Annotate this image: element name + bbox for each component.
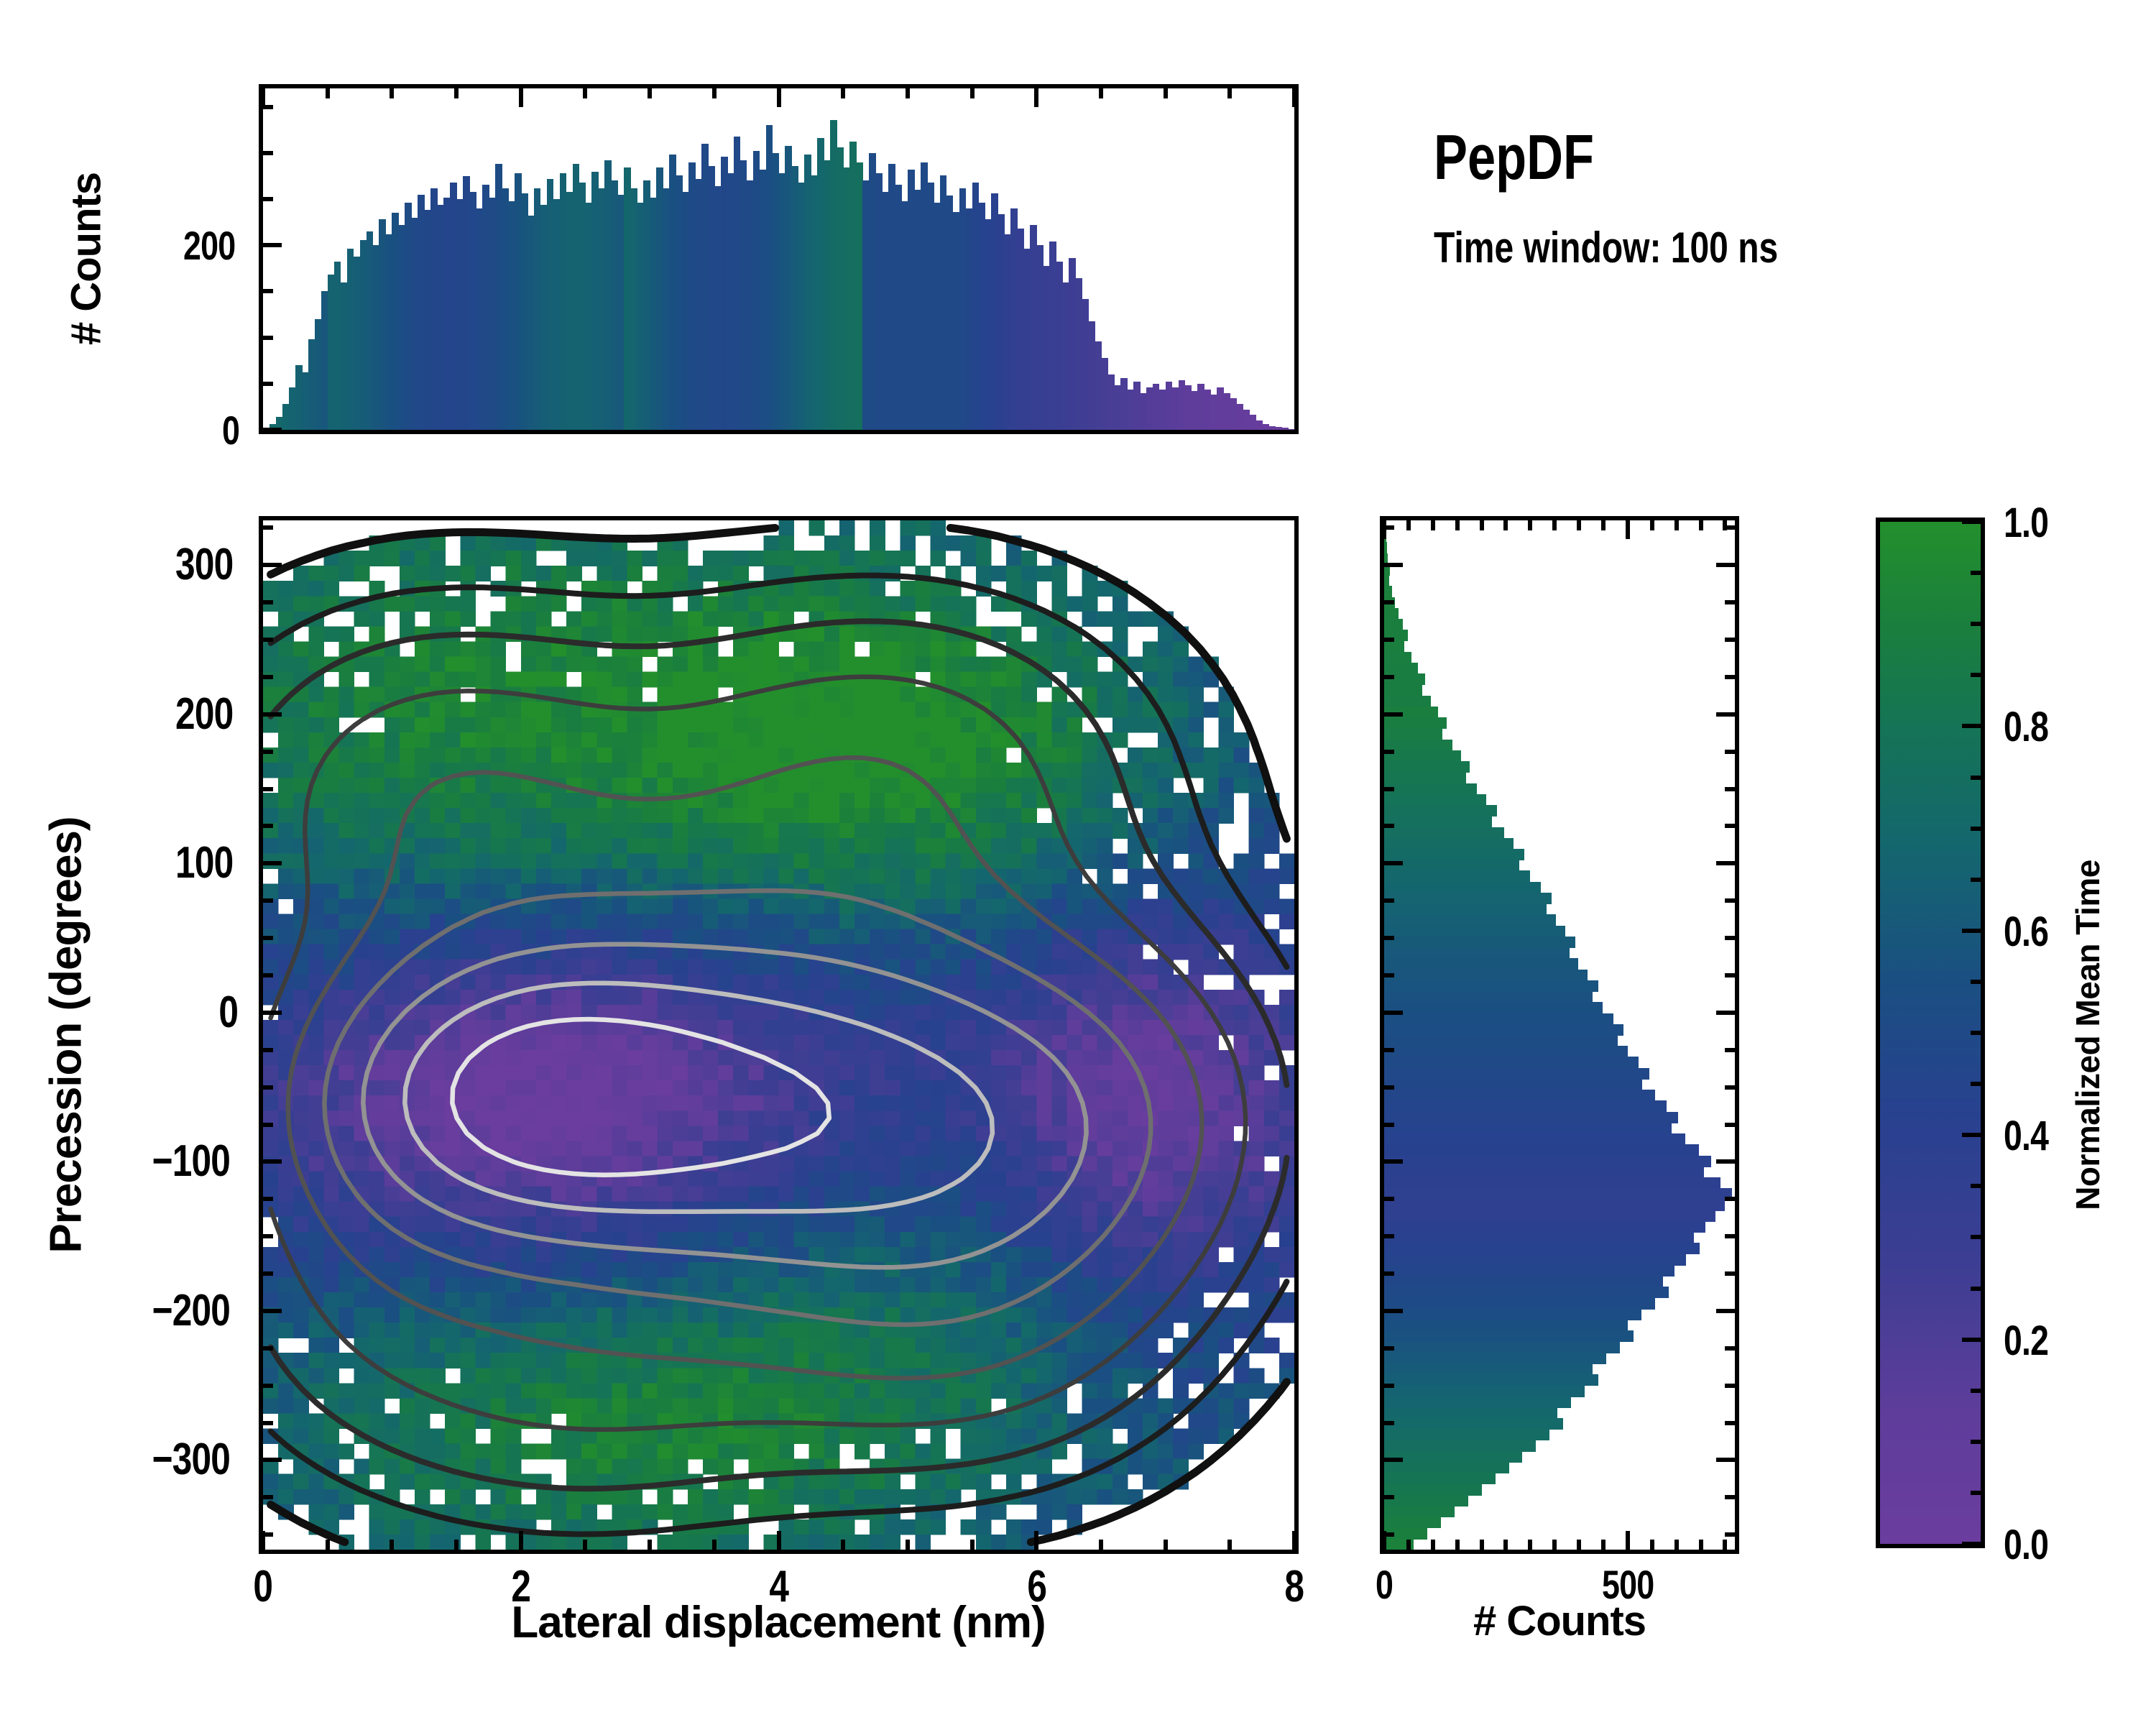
- right-histogram-bar: [1384, 1298, 1655, 1310]
- right-panel-x-tick: [1552, 1540, 1557, 1550]
- main-panel-y-tick: [263, 712, 282, 717]
- main-panel-x-tick: [519, 1531, 523, 1550]
- main-panel-x-tick: [712, 1540, 717, 1550]
- right-histogram-bar: [1384, 1320, 1628, 1331]
- right-histogram-bar: [1384, 641, 1404, 653]
- right-histogram-bars: [1384, 520, 1735, 1550]
- right-panel-y-tick: [1725, 1048, 1735, 1052]
- right-panel-y-tick: [1725, 600, 1735, 604]
- right-histogram-bar: [1384, 1407, 1557, 1419]
- colorbar: [1876, 517, 1985, 1548]
- main-panel-y-tick: [263, 675, 273, 679]
- right-histogram-bar: [1384, 991, 1593, 1003]
- right-panel-y-tick: [1384, 973, 1394, 977]
- figure-subtitle-text: Time window: 100 ns: [1434, 226, 1778, 270]
- top-panel-x-tick: [906, 88, 910, 98]
- right-histogram-bar: [1384, 772, 1466, 783]
- colorbar-minor-tick: [1971, 827, 1981, 831]
- heatmap-svg: [263, 520, 1294, 1550]
- top-panel-x-tick: [390, 88, 394, 98]
- colorbar-major-tick: [1962, 724, 1981, 728]
- right-histogram-bar: [1384, 1188, 1732, 1200]
- colorbar-minor-tick: [1971, 776, 1981, 780]
- right-panel-y-tick: [1725, 898, 1735, 903]
- right-histogram-bar: [1384, 1287, 1669, 1298]
- right-histogram-bar: [1384, 849, 1524, 860]
- right-panel-y-tick: [1384, 1048, 1394, 1052]
- main-panel-y-tick-label: −200: [0, 1285, 240, 1336]
- right-panel-y-tick: [1725, 936, 1735, 940]
- right-panel-x-tick: [1431, 1540, 1435, 1550]
- right-panel-y-tick: [1384, 1271, 1394, 1276]
- right-panel-y-tick: [1725, 1346, 1735, 1351]
- right-histogram-bar: [1384, 1374, 1598, 1386]
- right-histogram-bar: [1384, 1451, 1522, 1463]
- right-histogram-bar: [1384, 783, 1477, 795]
- right-panel-y-tick: [1725, 675, 1735, 679]
- right-histogram-bar: [1384, 542, 1387, 553]
- right-panel-y-tick: [1384, 525, 1394, 530]
- right-panel-x-tick: [1650, 1540, 1654, 1550]
- main-panel-y-tick: [263, 1048, 273, 1052]
- right-panel-y-tick: [1725, 1532, 1735, 1537]
- right-histogram-bar: [1384, 619, 1403, 630]
- right-panel-y-tick: [1384, 1532, 1394, 1537]
- colorbar-major-tick: [1962, 929, 1981, 933]
- top-panel-ylabel: # Counts: [63, 172, 111, 345]
- top-panel-x-tick: [454, 88, 459, 98]
- right-panel-y-tick: [1384, 861, 1403, 865]
- right-histogram-bar: [1384, 827, 1504, 839]
- main-panel-y-tick: [263, 525, 273, 530]
- right-histogram-bar: [1384, 750, 1461, 762]
- right-panel-x-tick: [1406, 1540, 1411, 1550]
- right-panel-x-tick: [1626, 520, 1630, 539]
- right-histogram-bar: [1384, 937, 1575, 948]
- right-histogram-bar: [1384, 903, 1547, 915]
- right-histogram-bar: [1384, 652, 1411, 663]
- main-panel-y-tick: [263, 861, 282, 865]
- right-panel-y-tick: [1725, 1271, 1735, 1276]
- figure-canvas: 0200 # Counts 024683002001000−100−200−30…: [0, 0, 2156, 1725]
- right-panel-x-tick: [1601, 1540, 1606, 1550]
- right-histogram-bar: [1384, 1440, 1536, 1452]
- right-histogram-bar: [1384, 1484, 1482, 1496]
- top-panel-y-minor-tick: [263, 336, 273, 340]
- right-histogram-bar: [1384, 1276, 1663, 1287]
- right-histogram-bar: [1384, 805, 1497, 816]
- colorbar-tick-label: 0.0: [2004, 1521, 2060, 1569]
- right-panel-y-tick: [1384, 600, 1394, 604]
- main-panel-x-tick: [583, 1540, 587, 1550]
- top-marginal-histogram-panel: [259, 84, 1299, 434]
- main-panel-x-tick: [454, 1540, 459, 1550]
- right-panel-y-tick: [1384, 1123, 1394, 1127]
- top-panel-y-major-tick: [263, 243, 282, 247]
- right-histogram-bar: [1384, 1385, 1585, 1397]
- right-panel-x-tick: [1699, 1540, 1703, 1550]
- title-block: PepDF Time window: 100 ns: [1434, 126, 1864, 270]
- colorbar-major-tick: [1962, 1133, 1981, 1137]
- right-panel-x-tick: [1455, 520, 1460, 530]
- colorbar-label: Normalized Mean Time: [2068, 860, 2107, 1210]
- main-panel-y-tick: [263, 1309, 282, 1313]
- right-histogram-bar: [1384, 1221, 1705, 1233]
- right-panel-y-tick: [1716, 1309, 1735, 1313]
- right-panel-y-tick: [1725, 1421, 1735, 1425]
- right-histogram-bar: [1384, 1144, 1699, 1156]
- right-panel-x-tick: [1503, 520, 1508, 530]
- right-histogram-bar: [1384, 717, 1447, 729]
- right-panel-y-tick: [1384, 563, 1403, 567]
- main-panel-y-tick-label: 0: [0, 987, 240, 1038]
- main-panel-x-tick: [841, 1540, 845, 1550]
- colorbar-tick-label: 0.8: [2004, 703, 2060, 751]
- main-panel-x-tick: [906, 1540, 910, 1550]
- colorbar-minor-tick: [1971, 1235, 1981, 1239]
- right-histogram-bar: [1384, 1517, 1441, 1528]
- top-panel-x-tick: [777, 88, 781, 107]
- top-panel-x-tick: [519, 88, 523, 107]
- right-panel-x-tick: [1480, 1540, 1484, 1550]
- main-heatmap-canvas: [263, 520, 1294, 1550]
- main-panel-y-tick-label: −300: [0, 1434, 240, 1485]
- main-panel-y-tick: [263, 1197, 273, 1201]
- right-panel-y-tick: [1725, 824, 1735, 828]
- right-panel-y-tick: [1725, 973, 1735, 977]
- right-panel-x-tick: [1455, 1540, 1460, 1550]
- right-panel-y-tick: [1725, 1234, 1735, 1238]
- main-panel-ylabel: Precession (degrees): [41, 816, 92, 1253]
- colorbar-tick-label: 0.2: [2004, 1317, 2060, 1365]
- right-panel-y-tick: [1384, 712, 1403, 717]
- main-panel-x-tick: [390, 1540, 394, 1550]
- right-histogram-bar: [1384, 1254, 1686, 1266]
- top-panel-x-tick: [583, 88, 587, 98]
- right-histogram-bar: [1384, 663, 1418, 674]
- top-panel-y-major-tick: [263, 428, 282, 432]
- colorbar-tick-label: 0.6: [2004, 908, 2060, 956]
- right-panel-y-tick: [1725, 525, 1735, 530]
- right-histogram-bar: [1384, 958, 1578, 970]
- right-histogram-bar: [1384, 926, 1565, 937]
- top-panel-y-tick-label: 0: [0, 407, 241, 454]
- main-panel-y-tick: [263, 1532, 273, 1537]
- right-panel-y-tick: [1384, 1421, 1394, 1425]
- main-panel-y-tick: [263, 1159, 282, 1164]
- main-panel-y-tick-label: 200: [0, 689, 240, 740]
- main-panel-y-tick: [263, 563, 282, 567]
- right-histogram-bar: [1384, 838, 1514, 850]
- top-panel-x-tick: [1164, 88, 1168, 98]
- right-panel-x-tick: [1674, 1540, 1679, 1550]
- right-histogram-bar: [1384, 1177, 1720, 1189]
- right-histogram-bar: [1384, 1462, 1509, 1473]
- main-panel-y-tick-label: −100: [0, 1136, 240, 1187]
- right-histogram-bar: [1384, 1418, 1563, 1430]
- main-panel-x-tick: [1099, 1540, 1103, 1550]
- main-panel-x-tick: [1034, 1531, 1038, 1550]
- right-histogram-bar: [1384, 794, 1486, 806]
- colorbar-minor-tick: [1971, 1082, 1981, 1086]
- top-panel-x-tick: [261, 88, 265, 107]
- top-panel-x-tick: [1227, 88, 1232, 98]
- colorbar-tick-label: 1.0: [2004, 499, 2060, 547]
- right-panel-y-tick: [1384, 898, 1394, 903]
- right-panel-x-tick: [1528, 1540, 1532, 1550]
- right-histogram-bar: [1384, 970, 1588, 981]
- right-histogram-bar: [1384, 1013, 1613, 1025]
- right-histogram-bar: [1384, 685, 1422, 696]
- top-panel-x-tick: [1292, 88, 1296, 107]
- top-panel-x-tick: [712, 88, 717, 98]
- right-panel-y-tick: [1725, 787, 1735, 791]
- right-histogram-bar: [1384, 1397, 1571, 1408]
- right-panel-y-tick: [1384, 787, 1394, 791]
- right-panel-y-tick: [1384, 1197, 1394, 1201]
- right-histogram-bar: [1384, 1210, 1715, 1222]
- right-histogram-bar: [1384, 1330, 1634, 1342]
- right-histogram-bar: [1384, 1309, 1641, 1320]
- top-panel-y-minor-tick: [263, 382, 273, 386]
- right-histogram-bar: [1384, 860, 1519, 871]
- main-panel-y-tick: [263, 600, 273, 604]
- right-histogram-bar: [1384, 816, 1492, 827]
- right-histogram-bar: [1384, 980, 1598, 992]
- right-panel-y-tick: [1716, 563, 1735, 567]
- right-panel-y-tick: [1725, 1197, 1735, 1201]
- right-panel-y-tick: [1384, 1011, 1403, 1015]
- right-panel-y-tick: [1725, 638, 1735, 642]
- main-panel-y-tick: [263, 1384, 273, 1388]
- main-panel-x-tick: [1292, 1531, 1296, 1550]
- right-panel-x-tick: [1723, 1540, 1727, 1550]
- right-panel-y-tick: [1384, 1159, 1403, 1164]
- right-histogram-bar: [1384, 1090, 1655, 1101]
- top-panel-y-minor-tick: [263, 151, 273, 155]
- colorbar-minor-tick: [1971, 878, 1981, 882]
- right-histogram-bar: [1384, 882, 1541, 893]
- right-panel-y-tick: [1384, 638, 1394, 642]
- page-title: PepDF: [1434, 126, 1864, 189]
- main-panel-y-tick: [263, 1271, 273, 1276]
- right-panel-x-tick: [1480, 520, 1484, 530]
- right-panel-x-tick: [1577, 520, 1581, 530]
- right-panel-y-tick: [1725, 1123, 1735, 1127]
- top-panel-x-tick: [648, 88, 652, 98]
- right-panel-x-tick: [1601, 520, 1606, 530]
- right-panel-y-tick: [1716, 1159, 1735, 1164]
- colorbar-minor-tick: [1971, 622, 1981, 626]
- top-panel-y-minor-tick: [263, 289, 273, 293]
- right-histogram-bar: [1384, 1506, 1455, 1517]
- right-histogram-bar: [1384, 1068, 1649, 1080]
- colorbar-minor-tick: [1971, 1491, 1981, 1495]
- right-panel-y-tick: [1716, 712, 1735, 717]
- right-histogram-bar: [1384, 1133, 1685, 1145]
- main-panel-y-tick: [263, 1421, 273, 1425]
- main-panel-y-tick: [263, 638, 273, 642]
- top-panel-x-tick: [326, 88, 330, 98]
- right-panel-xlabel: # Counts: [1473, 1597, 1646, 1645]
- main-panel-x-tick: [1164, 1540, 1168, 1550]
- page-title-text: PepDF: [1434, 126, 1594, 189]
- top-histogram-bars: [263, 88, 1294, 430]
- right-histogram-bar: [1384, 1200, 1725, 1211]
- main-panel-y-tick: [263, 1123, 273, 1127]
- main-panel-y-tick: [263, 1346, 273, 1351]
- right-panel-x-tick: [1552, 520, 1557, 530]
- right-panel-x-tick: [1650, 520, 1654, 530]
- right-histogram-bar: [1384, 1079, 1642, 1090]
- main-panel-x-tick: [648, 1540, 652, 1550]
- colorbar-major-tick: [1962, 1542, 1981, 1546]
- top-panel-y-tick-label: 200: [0, 222, 241, 269]
- right-panel-x-tick-label: 0: [1327, 1561, 1442, 1608]
- right-histogram-bar: [1384, 1123, 1672, 1134]
- figure-subtitle: Time window: 100 ns: [1434, 226, 1864, 270]
- right-histogram-bar: [1384, 1265, 1674, 1276]
- right-panel-y-tick: [1384, 1085, 1394, 1090]
- right-histogram-bar: [1384, 1353, 1606, 1364]
- main-panel-y-tick: [263, 898, 273, 903]
- right-panel-y-tick: [1725, 1384, 1735, 1388]
- right-histogram-bar: [1384, 696, 1431, 707]
- right-panel-y-tick: [1384, 1384, 1394, 1388]
- right-panel-y-tick: [1384, 1495, 1394, 1499]
- right-histogram-bar: [1384, 1167, 1704, 1178]
- main-panel-y-tick: [263, 1085, 273, 1090]
- right-panel-x-tick: [1699, 520, 1703, 530]
- colorbar-gradient: [1880, 522, 1981, 1544]
- right-histogram-bar: [1384, 761, 1470, 773]
- right-panel-y-tick: [1725, 1085, 1735, 1090]
- main-panel-x-tick: [1227, 1540, 1232, 1550]
- right-histogram-bar: [1384, 1024, 1623, 1036]
- main-panel-xlabel: Lateral displacement (nm): [511, 1597, 1045, 1648]
- right-histogram-bar: [1384, 1100, 1667, 1112]
- right-histogram-bar: [1384, 1429, 1549, 1440]
- main-panel-y-tick: [263, 1234, 273, 1238]
- main-panel-y-tick: [263, 824, 273, 828]
- right-panel-y-tick: [1716, 1458, 1735, 1462]
- main-panel-x-tick: [970, 1540, 975, 1550]
- right-panel-y-tick: [1384, 1346, 1394, 1351]
- main-panel-x-tick: [777, 1531, 781, 1550]
- colorbar-major-tick: [1962, 520, 1981, 524]
- right-panel-y-tick: [1725, 1495, 1735, 1499]
- top-panel-x-tick: [1099, 88, 1103, 98]
- right-panel-x-tick: [1674, 520, 1679, 530]
- right-histogram-bar: [1384, 1363, 1593, 1375]
- main-panel-y-tick: [263, 1011, 282, 1015]
- right-histogram-bar: [1384, 914, 1556, 926]
- right-histogram-bar: [1384, 870, 1530, 882]
- colorbar-minor-tick: [1971, 673, 1981, 677]
- right-histogram-bar: [1384, 728, 1442, 740]
- main-panel-y-tick: [263, 750, 273, 754]
- right-histogram-bar: [1384, 575, 1389, 586]
- right-panel-y-tick: [1384, 824, 1394, 828]
- colorbar-minor-tick: [1971, 1287, 1981, 1291]
- top-panel-x-tick: [970, 88, 975, 98]
- colorbar-minor-tick: [1971, 1440, 1981, 1444]
- right-panel-y-tick: [1384, 675, 1394, 679]
- main-panel-y-tick: [263, 1458, 282, 1462]
- colorbar-minor-tick: [1971, 1184, 1981, 1188]
- main-panel-y-tick-label: 100: [0, 837, 240, 888]
- right-histogram-bar: [1384, 893, 1552, 904]
- right-panel-y-tick: [1384, 1234, 1394, 1238]
- right-panel-x-tick: [1503, 1540, 1508, 1550]
- main-panel-y-tick: [263, 936, 273, 940]
- right-panel-x-tick: [1626, 1531, 1630, 1550]
- right-panel-y-tick: [1384, 750, 1394, 754]
- colorbar-minor-tick: [1971, 1031, 1981, 1035]
- right-panel-y-tick: [1725, 750, 1735, 754]
- top-panel-x-tick: [1034, 88, 1038, 107]
- right-histogram-bar: [1384, 608, 1399, 620]
- right-histogram-bar: [1384, 1035, 1618, 1046]
- right-histogram-bar: [1384, 1046, 1628, 1057]
- right-histogram-bar: [1384, 1342, 1620, 1353]
- right-histogram-bar: [1384, 1495, 1468, 1506]
- right-histogram-bar: [1384, 1112, 1678, 1123]
- main-panel-y-tick: [263, 1495, 273, 1499]
- right-histogram-bar: [1384, 947, 1570, 959]
- main-panel-y-tick: [263, 787, 273, 791]
- right-panel-y-tick: [1716, 861, 1735, 865]
- right-histogram-bar: [1384, 1002, 1603, 1013]
- right-histogram-bar: [1384, 586, 1392, 597]
- right-histogram-bar: [1384, 1232, 1694, 1243]
- right-panel-x-tick: [1577, 1540, 1581, 1550]
- colorbar-tick-label: 0.4: [2004, 1112, 2060, 1160]
- main-panel-x-tick-label: 0: [206, 1561, 321, 1612]
- right-panel-y-tick: [1384, 936, 1394, 940]
- right-panel-y-tick: [1384, 1309, 1403, 1313]
- right-panel-x-tick: [1431, 520, 1435, 530]
- right-panel-x-tick: [1528, 520, 1532, 530]
- top-panel-x-tick: [841, 88, 845, 98]
- colorbar-minor-tick: [1971, 1389, 1981, 1393]
- top-histogram-bar: [1288, 429, 1294, 430]
- right-histogram-bar: [1384, 1243, 1700, 1254]
- right-panel-y-tick: [1384, 1458, 1403, 1462]
- colorbar-minor-tick: [1971, 571, 1981, 575]
- main-panel-y-tick: [263, 973, 273, 977]
- top-panel-y-minor-tick: [263, 197, 273, 201]
- right-marginal-histogram-panel: [1380, 516, 1739, 1554]
- right-histogram-bar: [1384, 1473, 1496, 1484]
- main-panel-y-tick-label: 300: [0, 539, 240, 590]
- right-histogram-bar: [1384, 1156, 1711, 1167]
- right-histogram-bar: [1384, 1057, 1639, 1068]
- main-panel-x-tick: [326, 1540, 330, 1550]
- right-histogram-bar: [1384, 740, 1452, 751]
- right-panel-x-tick: [1406, 520, 1411, 530]
- main-heatmap-panel: [259, 516, 1299, 1554]
- colorbar-minor-tick: [1971, 980, 1981, 984]
- colorbar-major-tick: [1962, 1338, 1981, 1342]
- right-panel-y-tick: [1716, 1011, 1735, 1015]
